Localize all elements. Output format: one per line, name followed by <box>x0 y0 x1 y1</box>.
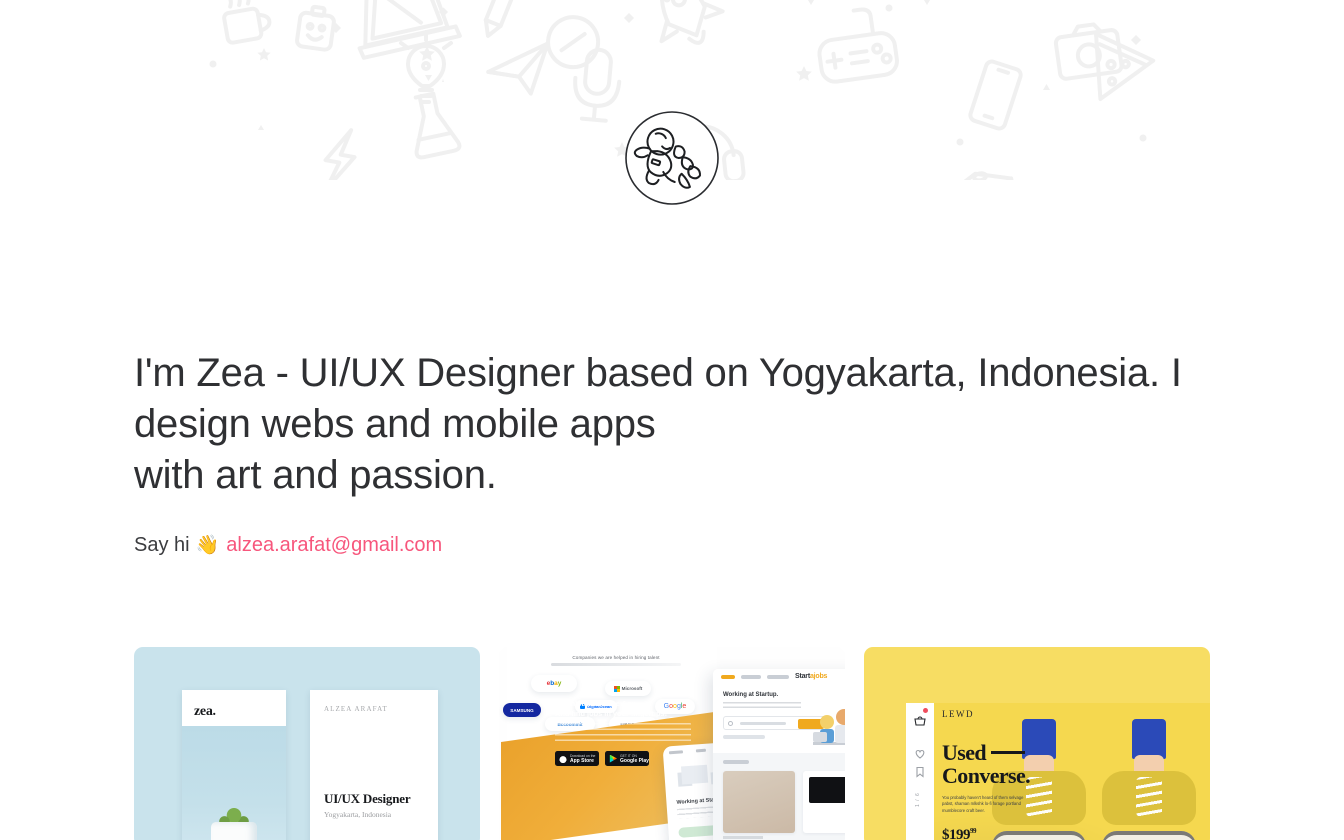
microphone-icon <box>572 48 622 122</box>
pencil-icon <box>481 0 521 39</box>
owner-name: ALZEA ARAFAT <box>324 705 388 713</box>
compass-icon <box>544 13 602 71</box>
shop-title-line2: Converse. <box>942 763 1030 788</box>
browser-featured-section <box>713 753 845 840</box>
price-cents: 99 <box>970 827 976 835</box>
app-store-large: App Store <box>570 758 595 764</box>
lightning-bolt-icon <box>321 127 359 180</box>
flask-icon <box>405 91 460 159</box>
cart-badge <box>923 708 928 713</box>
google-play-large: Google Play <box>620 758 649 764</box>
portfolio-page: I'm Zea - UI/UX Designer based on Yogyak… <box>0 0 1344 840</box>
nav-item-home[interactable] <box>721 675 735 679</box>
featured-heading <box>723 760 749 764</box>
sneaker-laces <box>1136 777 1162 817</box>
project-card-converse-shop[interactable]: 1 / 6 LEWD Used Converse. You probably h… <box>864 647 1210 840</box>
project-card-jobs-website[interactable]: Companies we are helped in hiring talent… <box>499 647 845 840</box>
shop-content: LEWD Used Converse. You probably haven't… <box>942 709 1092 840</box>
waving-hand-icon: 👋 <box>196 536 220 555</box>
app-store-badge[interactable]: Download on the App Store <box>555 751 599 766</box>
shop-description: You probably haven't heard of them selva… <box>942 795 1028 814</box>
sneaker-right <box>1102 719 1196 840</box>
apple-icon <box>559 755 567 763</box>
plant-photo <box>182 726 286 840</box>
google-play-icon <box>609 755 617 763</box>
pizza-slice-icon <box>1081 34 1156 109</box>
browser-mockup: Startajobs Working at Startup. <box>713 669 845 840</box>
heart-icon[interactable] <box>914 747 926 759</box>
google-play-badge[interactable]: GET IT ON Google Play <box>605 751 649 766</box>
lego-brick-icon <box>946 167 1019 180</box>
say-hi-label: Say hi <box>134 531 190 559</box>
app-promo-title: Download our free App. And find jobs in … <box>555 699 705 719</box>
sneaker-toe <box>1102 831 1196 840</box>
smartphone-icon <box>969 60 1022 130</box>
project-card-branding[interactable]: zea. ALZEA ARAFAT UI/UX Designer Yogyaka… <box>134 647 480 840</box>
browser-search-bar[interactable] <box>723 716 827 730</box>
nav-item-for-talent[interactable] <box>741 675 761 679</box>
camera-icon <box>1054 21 1122 79</box>
shop-title-line1: Used <box>942 740 986 765</box>
coffee-mug-icon <box>221 0 272 43</box>
page-title: I'm Zea - UI/UX Designer based on Yogyak… <box>134 348 1214 501</box>
browser-hero: Working at Startup. <box>713 686 845 753</box>
browser-hero-sub <box>723 702 801 710</box>
cart-icon[interactable] <box>914 715 926 727</box>
advance-search-filter[interactable] <box>723 735 765 739</box>
featured-tile-1[interactable] <box>723 771 795 833</box>
slide-counter: 1 / 6 <box>915 792 921 807</box>
search-placeholder <box>740 722 786 725</box>
title-rule <box>991 751 1025 754</box>
astronaut-logo[interactable] <box>624 110 720 206</box>
project-cards: zea. ALZEA ARAFAT UI/UX Designer Yogyaka… <box>134 647 1210 840</box>
brand-wordmark: zea. <box>194 704 216 720</box>
paper-plane-icon <box>486 44 553 98</box>
gamepad-icon <box>814 6 899 84</box>
plant-pot <box>211 822 257 840</box>
business-card-front: zea. <box>182 690 286 840</box>
browser-hero-title: Working at Startup. <box>723 692 778 698</box>
hero-section: I'm Zea - UI/UX Designer based on Yogyak… <box>134 348 1214 559</box>
shop-price: $19999 <box>942 827 1092 840</box>
owner-location: Yogyakarta, Indonesia <box>324 810 391 819</box>
browser-navbar: Startajobs <box>713 669 845 686</box>
business-card-back: ALZEA ARAFAT UI/UX Designer Yogyakarta, … <box>310 690 438 840</box>
app-promo-body <box>555 723 691 745</box>
rocket-icon <box>635 0 730 57</box>
lego-head-icon <box>296 5 335 50</box>
featured-tile-2[interactable] <box>803 771 845 833</box>
nav-item-company[interactable] <box>767 675 789 679</box>
trouser-leg <box>1132 719 1166 759</box>
search-icon <box>728 721 733 726</box>
shop-sidebar: 1 / 6 <box>906 703 934 840</box>
shop-brand: LEWD <box>942 709 1092 719</box>
shop-title: Used Converse. <box>942 741 1092 787</box>
team-illustration <box>813 708 845 752</box>
browser-brand: Startajobs <box>795 673 827 680</box>
app-store-small: Download on the <box>570 754 595 758</box>
email-link[interactable]: alzea.arafat@gmail.com <box>226 531 442 559</box>
contact-line: Say hi 👋 alzea.arafat@gmail.com <box>134 531 1214 559</box>
owner-role: UI/UX Designer <box>324 791 410 807</box>
laptop-icon <box>352 0 461 58</box>
lightbulb-icon <box>401 32 451 102</box>
browser-footer <box>723 836 845 839</box>
bookmark-icon[interactable] <box>914 765 926 777</box>
